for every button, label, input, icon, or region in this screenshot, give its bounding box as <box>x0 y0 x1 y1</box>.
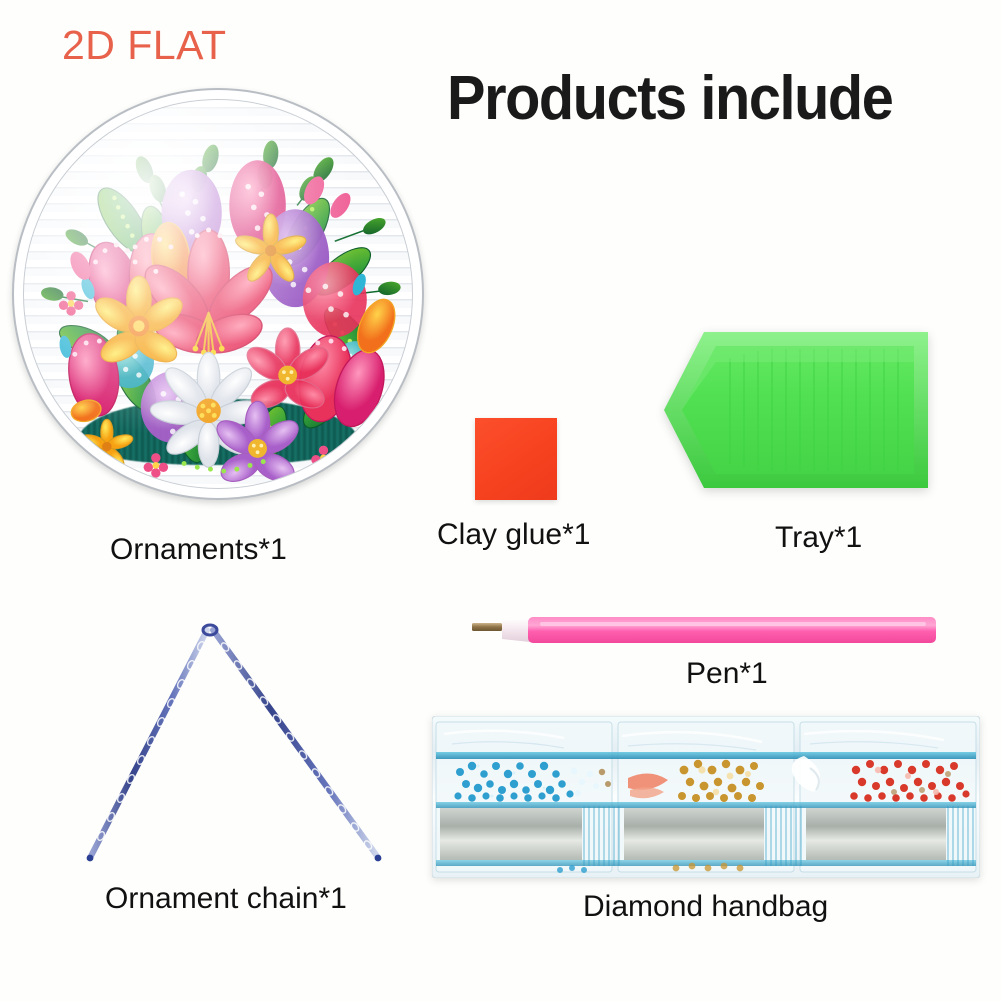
page-title: Products include <box>447 63 892 134</box>
floral-bouquet-artwork <box>24 100 412 488</box>
badge-2d-flat: 2D FLAT <box>62 22 227 69</box>
product-infographic: 2D FLAT Products include <box>0 0 1001 1001</box>
caption-ornament-chain: Ornament chain*1 <box>105 882 347 916</box>
caption-pen: Pen*1 <box>686 657 768 691</box>
tray-image <box>660 318 940 503</box>
caption-diamond-handbag: Diamond handbag <box>583 890 828 924</box>
ornament-disc <box>12 88 424 500</box>
pen-image <box>470 612 940 648</box>
diamond-handbag-image <box>432 716 980 878</box>
caption-ornaments: Ornaments*1 <box>110 533 287 567</box>
ornament-image <box>12 88 424 500</box>
caption-tray: Tray*1 <box>775 521 862 555</box>
ornament-chain-image <box>85 618 395 868</box>
ornament-wood-background <box>23 99 413 489</box>
caption-clay-glue: Clay glue*1 <box>437 518 590 552</box>
clay-glue-image <box>475 418 557 500</box>
